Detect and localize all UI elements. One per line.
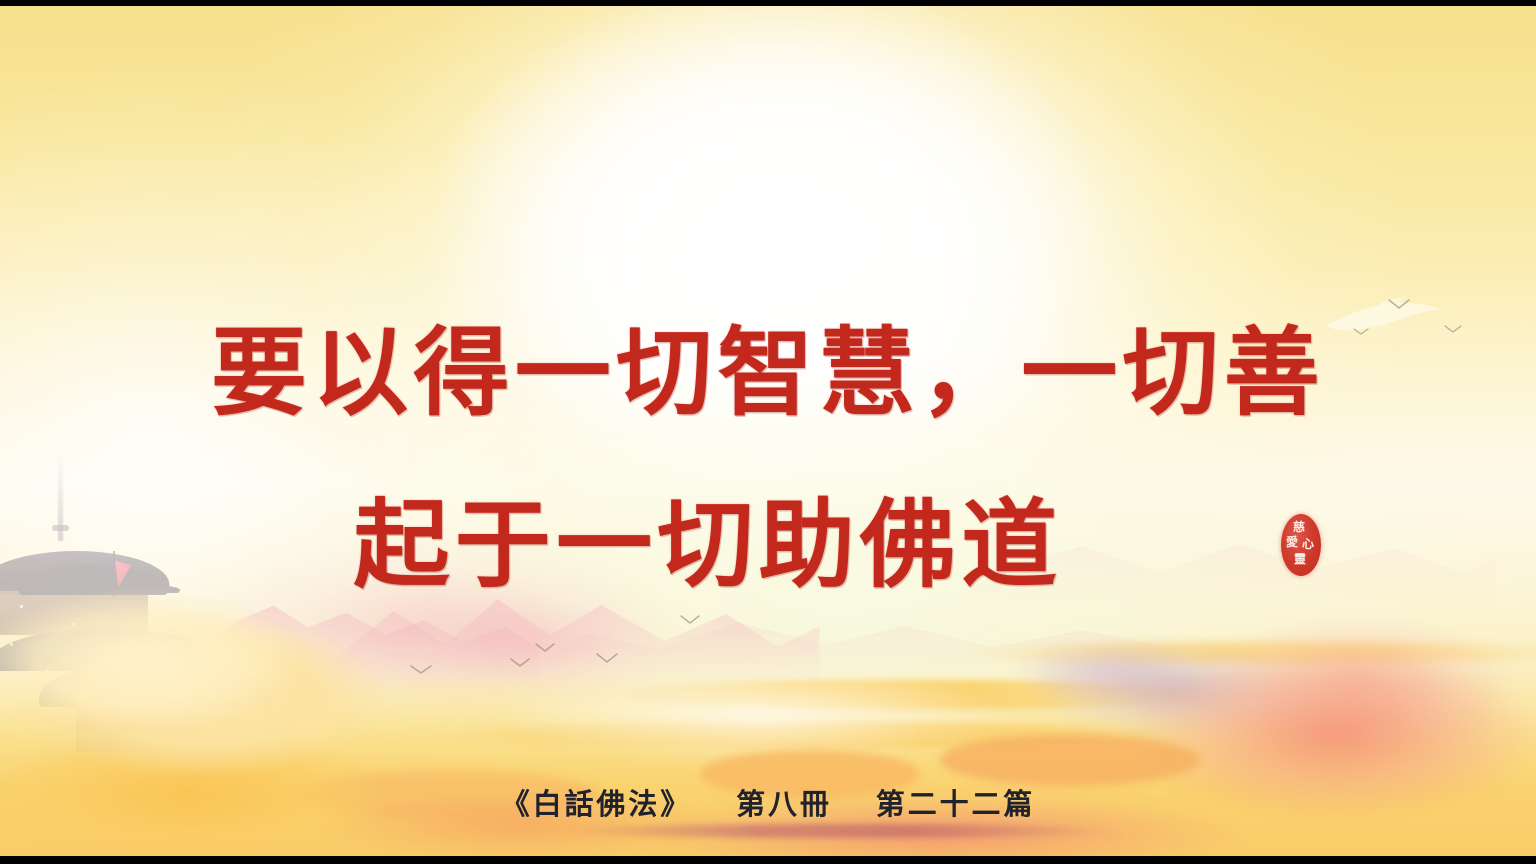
caption: 《白話佛法》 第八冊 第二十二篇: [0, 781, 1536, 823]
cloud-streak-dark: [560, 824, 1120, 838]
seal-char-2: 愛: [1286, 536, 1298, 548]
quote-card: 要以得一切智慧，一切善 起于一切助佛道 慈 愛 心 靈 《白話佛法》 第八冊 第…: [0, 0, 1536, 864]
caption-book-title: 《白話佛法》: [501, 787, 692, 821]
seal-char-1: 慈: [1293, 521, 1305, 533]
seal-characters: 慈 愛 心 靈: [1281, 514, 1321, 576]
bird-icon: [510, 658, 530, 668]
caption-chapter: 第二十二篇: [876, 787, 1036, 821]
bird-icon: [535, 643, 555, 653]
bird-icon: [410, 665, 432, 675]
seal-char-3: 心: [1302, 538, 1314, 550]
caption-volume: 第八冊: [736, 787, 832, 821]
bird-icon: [596, 653, 618, 664]
cloud-left-puff-highlight: [0, 570, 350, 750]
quote-line-1: 要以得一切智慧，一切善: [0, 325, 1536, 421]
bird-icon: [680, 615, 700, 625]
seal-char-4: 靈: [1294, 553, 1306, 565]
top-border-bar: [0, 3, 1536, 6]
bottom-border-bar: [0, 856, 1536, 860]
cloud-blob-b: [940, 734, 1200, 786]
bird-icon: [1388, 299, 1410, 310]
seal-stamp: 慈 愛 心 靈: [1281, 514, 1321, 576]
